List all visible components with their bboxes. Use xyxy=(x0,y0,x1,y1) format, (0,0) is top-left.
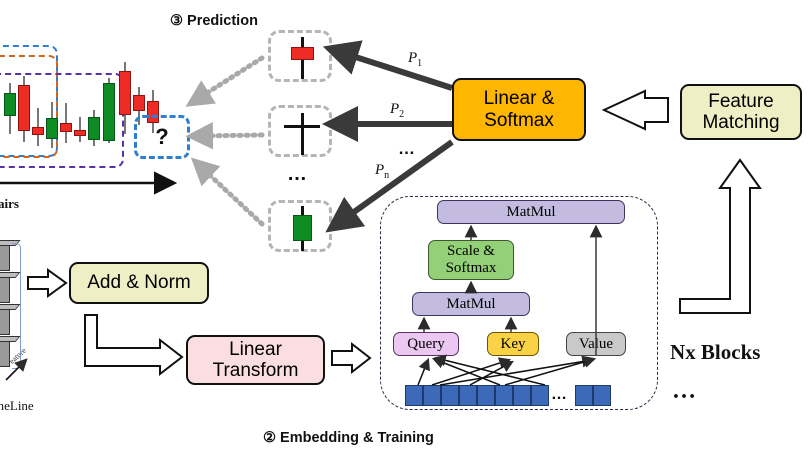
feature-matching-block[interactable]: Feature Matching xyxy=(680,84,802,140)
candle-body xyxy=(103,83,115,141)
diagram-canvas: ③ Prediction ② Embedding & Training Nx B… xyxy=(0,0,808,455)
token-square xyxy=(495,385,513,406)
linear-transform-text: Linear Transform xyxy=(213,339,299,382)
candle-body xyxy=(133,95,145,111)
token-ellipsis: … xyxy=(551,386,568,404)
arrow-attention-to-fm xyxy=(680,160,760,313)
probability-label-2: P2 xyxy=(390,101,404,120)
nx-blocks-ellipsis: … xyxy=(672,378,696,405)
candle-body xyxy=(32,127,44,135)
probability-ellipsis: … xyxy=(398,139,416,159)
token-square xyxy=(459,385,477,406)
matmul-top-text: MatMul xyxy=(506,204,555,221)
candidates-ellipsis: … xyxy=(287,163,308,186)
candidate-slot-2 xyxy=(268,105,332,157)
timeline-caption: meLine xyxy=(0,398,34,414)
token-square xyxy=(531,385,549,406)
candle-body xyxy=(119,71,131,115)
linear-softmax-text: Linear & Softmax xyxy=(484,88,555,131)
token-square xyxy=(575,385,593,406)
value-block[interactable]: Value xyxy=(566,332,626,356)
arrow-lt-to-attention xyxy=(332,344,370,372)
scale-softmax-block[interactable]: Scale & Softmax xyxy=(428,240,514,280)
token-square xyxy=(405,385,423,406)
unknown-prediction-box: ? xyxy=(134,115,190,159)
value-text: Value xyxy=(579,336,613,353)
scale-softmax-text: Scale & Softmax xyxy=(446,243,497,277)
token-square xyxy=(441,385,459,406)
question-mark: ? xyxy=(155,124,168,150)
token-square xyxy=(477,385,495,406)
add-norm-block[interactable]: Add & Norm xyxy=(69,262,209,304)
query-block[interactable]: Query xyxy=(393,332,459,356)
key-text: Key xyxy=(501,336,526,353)
embedding-stage-title: ② Embedding & Training xyxy=(263,430,434,446)
key-block[interactable]: Key xyxy=(487,332,539,356)
token-square xyxy=(513,385,531,406)
pairs-caption: airs xyxy=(0,196,19,212)
candle-body xyxy=(46,118,58,139)
nx-blocks-label: Nx Blocks xyxy=(670,340,760,365)
arrow-fm-to-ls xyxy=(604,91,668,129)
candidate-slot-1 xyxy=(268,30,332,82)
candidate-slot-3 xyxy=(268,200,332,252)
matmul-mid-block[interactable]: MatMul xyxy=(412,292,530,316)
candle-body xyxy=(60,123,72,132)
linear-transform-block[interactable]: Linear Transform xyxy=(186,335,325,385)
matmul-top-block[interactable]: MatMul xyxy=(437,200,625,224)
candle-body xyxy=(4,93,16,116)
timeline-stack xyxy=(0,240,46,390)
candle-body xyxy=(88,117,100,140)
candle-body xyxy=(18,85,30,131)
probability-label-n: Pn xyxy=(375,162,389,181)
feature-matching-text: Feature Matching xyxy=(702,91,779,134)
query-text: Query xyxy=(407,336,445,353)
candle-body xyxy=(74,130,86,136)
token-embedding-row xyxy=(405,385,615,407)
matmul-mid-text: MatMul xyxy=(446,296,495,313)
token-square xyxy=(423,385,441,406)
probability-label-1: P1 xyxy=(408,50,422,69)
token-square xyxy=(593,385,611,406)
add-norm-text: Add & Norm xyxy=(87,272,190,293)
linear-softmax-block[interactable]: Linear & Softmax xyxy=(452,78,586,141)
arrow-addnorm-to-lineartransform xyxy=(85,315,182,374)
